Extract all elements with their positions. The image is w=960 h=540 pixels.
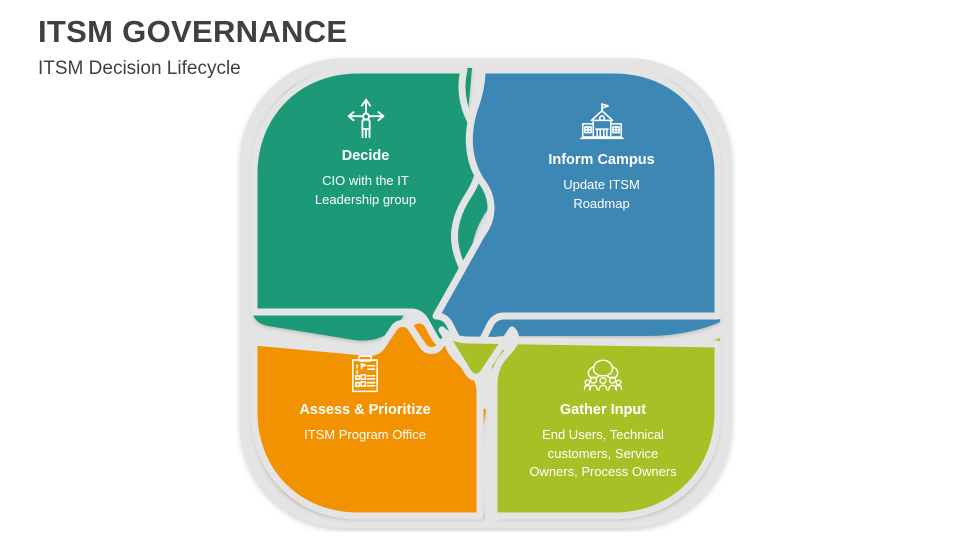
- cycle-diagram-svg: [236, 54, 736, 532]
- petal-assess-prioritize[interactable]: [254, 324, 480, 517]
- page-title: ITSM GOVERNANCE: [38, 14, 558, 50]
- itsm-decision-lifecycle-diagram: Decide CIO with the IT Leadership group: [236, 54, 736, 532]
